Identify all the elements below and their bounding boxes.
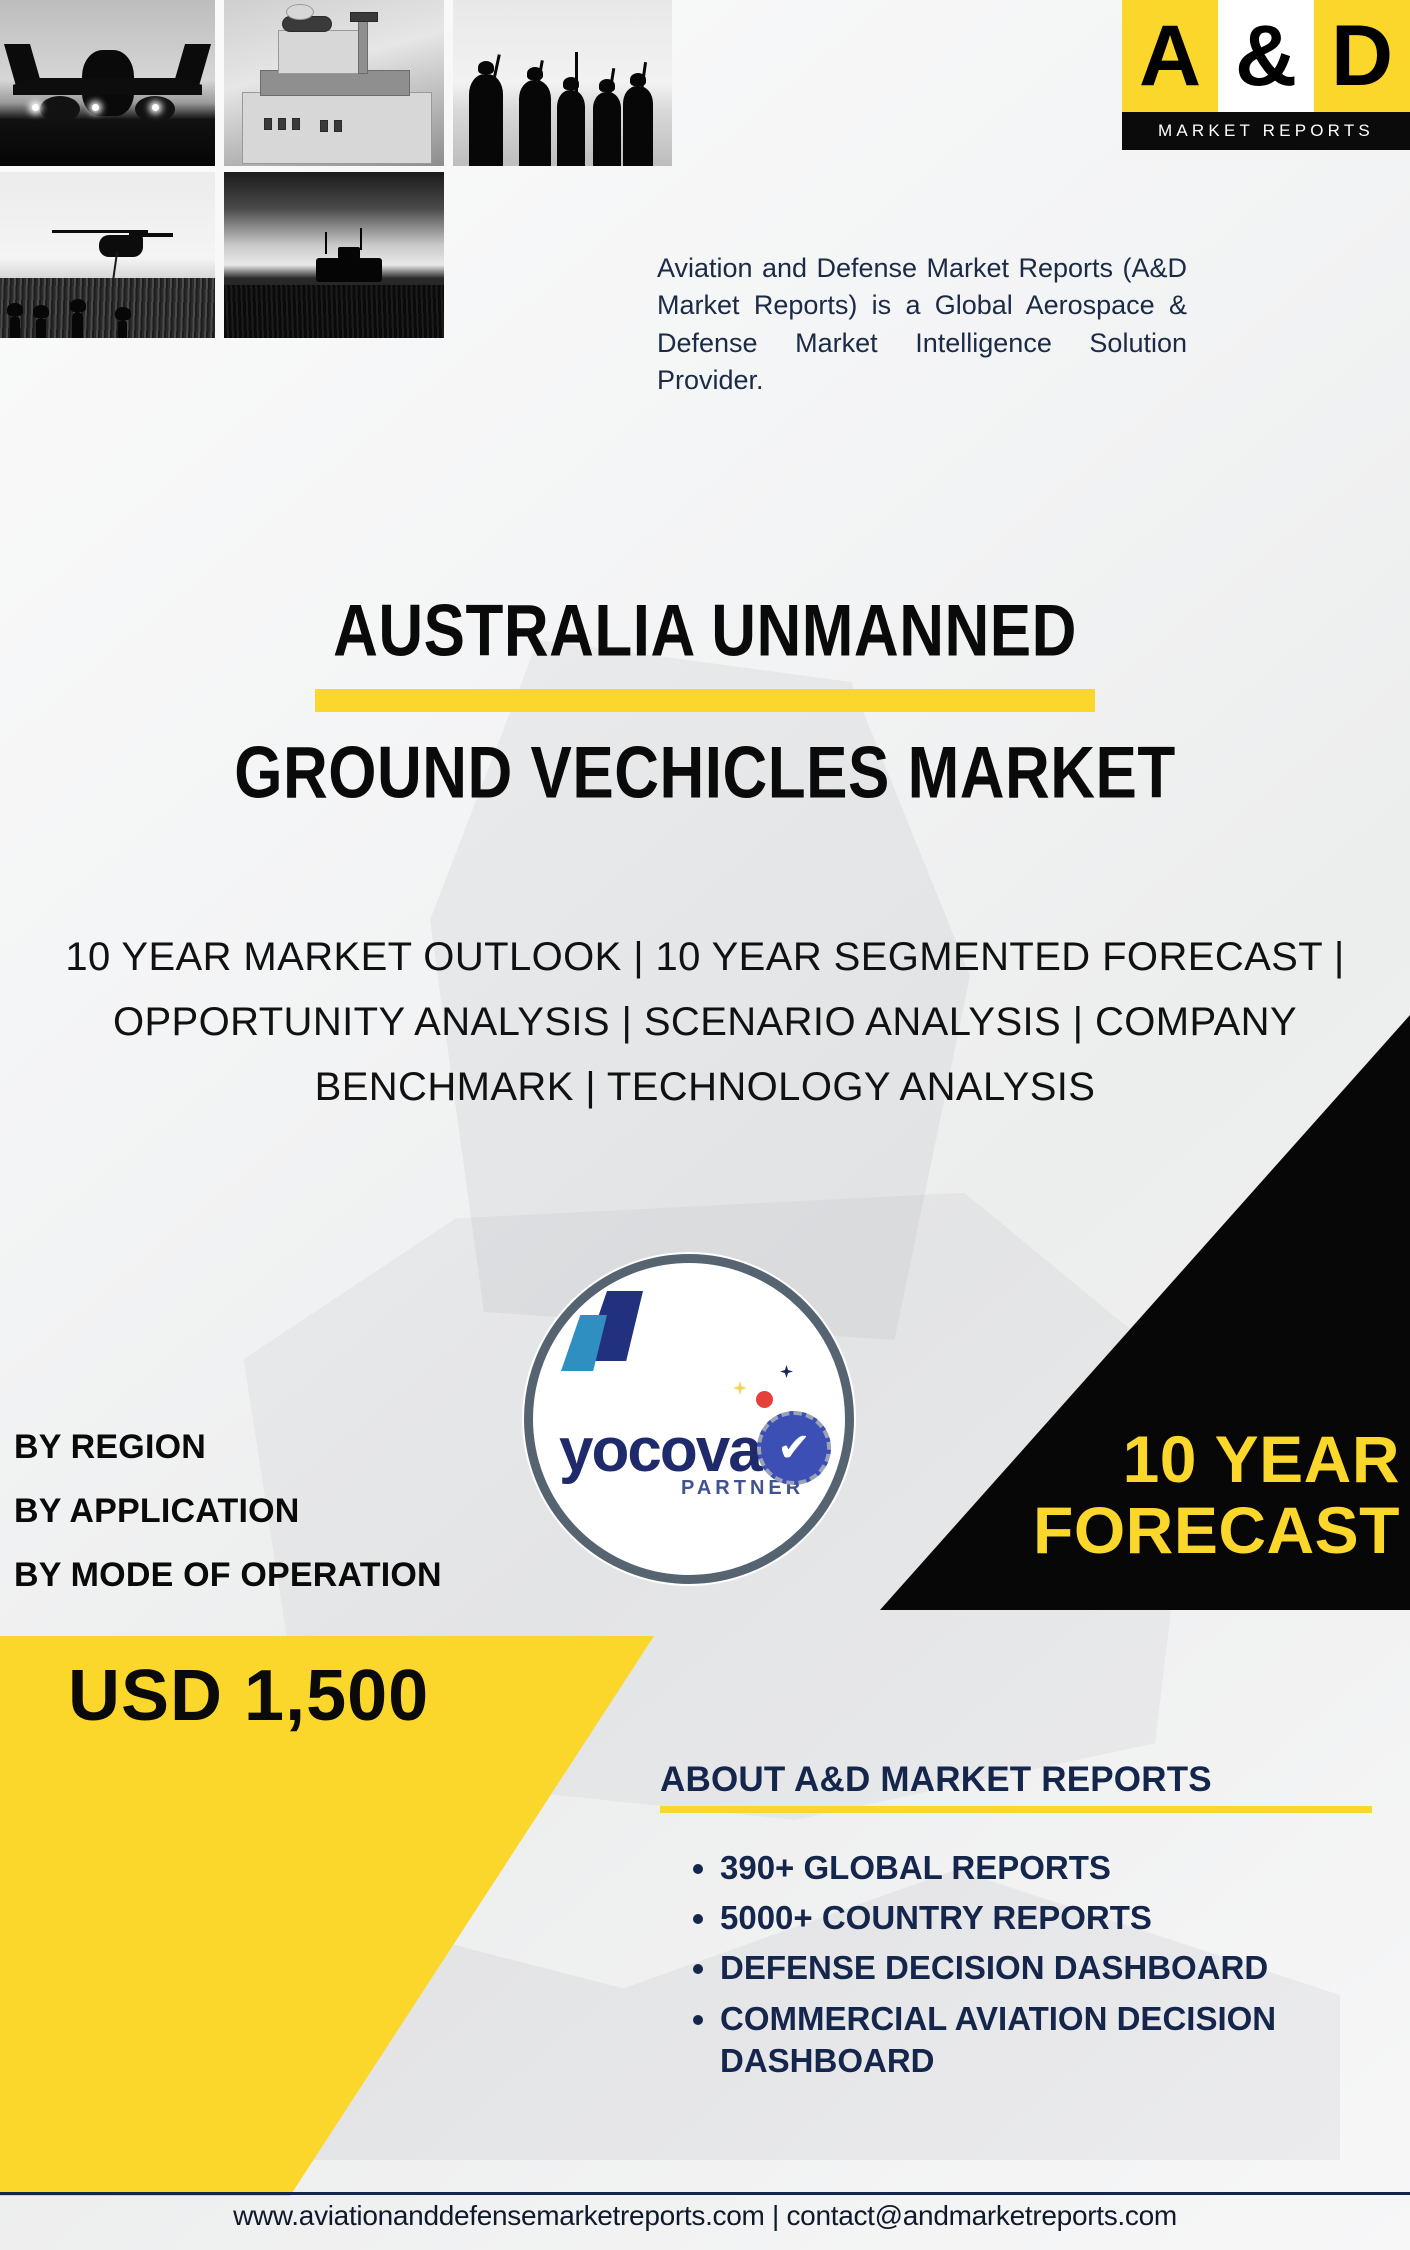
sparkle-navy-icon — [780, 1365, 793, 1378]
photo-helicopter-fast-rope-insertion — [0, 172, 215, 338]
about-section: ABOUT A&D MARKET REPORTS 390+ GLOBAL REP… — [660, 1760, 1400, 2090]
report-subtitle: 10 YEAR MARKET OUTLOOK | 10 YEAR SEGMENT… — [32, 925, 1378, 1119]
about-bullet-global-reports: 390+ GLOBAL REPORTS — [720, 1847, 1400, 1889]
photo-soldiers-silhouette-patrol — [453, 0, 672, 166]
company-logo: A & D MARKET REPORTS — [1122, 0, 1410, 150]
report-poster: A & D MARKET REPORTS Aviation and Defens… — [0, 0, 1410, 2250]
segment-item-mode-of-operation: BY MODE OF OPERATION — [14, 1556, 442, 1595]
photo-fighter-jet-on-carrier-deck — [0, 0, 215, 166]
sparkle-yellow-icon — [733, 1381, 747, 1395]
about-heading: ABOUT A&D MARKET REPORTS — [660, 1760, 1400, 1800]
footer-contact: www.aviationanddefensemarketreports.com … — [0, 2200, 1410, 2232]
about-bullet-list: 390+ GLOBAL REPORTS 5000+ COUNTRY REPORT… — [660, 1847, 1400, 2082]
yocova-flag-secondary-icon — [561, 1315, 607, 1371]
logo-letter-a: A — [1122, 0, 1218, 112]
footer-divider — [0, 2192, 1410, 2195]
photo-collage — [0, 0, 672, 340]
logo-tagline-bar: MARKET REPORTS — [1122, 112, 1410, 150]
report-title: AUSTRALIA UNMANNED GROUND VECHICLES MARK… — [0, 596, 1410, 809]
title-underline-bar — [315, 689, 1095, 712]
segment-item-application: BY APPLICATION — [14, 1492, 442, 1531]
dot-red-icon — [756, 1391, 773, 1408]
segment-item-region: BY REGION — [14, 1428, 442, 1467]
forecast-line-2: FORECAST — [700, 1495, 1400, 1566]
report-title-line-1: AUSTRALIA UNMANNED — [0, 590, 1410, 674]
about-heading-underline — [660, 1806, 1372, 1813]
logo-tagline: MARKET REPORTS — [1158, 121, 1374, 141]
company-intro-paragraph: Aviation and Defense Market Reports (A&D… — [657, 250, 1187, 399]
forecast-callout: 10 YEAR FORECAST — [700, 1424, 1400, 1567]
price-value: USD 1,500 — [68, 1655, 429, 1737]
about-bullet-commercial-dashboard: COMMERCIAL AVIATION DECISION DASHBOARD — [720, 1998, 1400, 2082]
photo-aircraft-carrier-superstructure — [224, 0, 444, 166]
about-bullet-defense-dashboard: DEFENSE DECISION DASHBOARD — [720, 1947, 1400, 1989]
about-bullet-country-reports: 5000+ COUNTRY REPORTS — [720, 1897, 1400, 1939]
forecast-line-1: 10 YEAR — [700, 1424, 1400, 1495]
logo-ampersand: & — [1218, 0, 1314, 112]
report-title-line-2: GROUND VECHICLES MARKET — [0, 732, 1410, 816]
photo-armored-vehicle-at-dusk — [224, 172, 444, 338]
logo-letter-d: D — [1314, 0, 1410, 112]
segmentation-list: BY REGION BY APPLICATION BY MODE OF OPER… — [14, 1428, 442, 1620]
